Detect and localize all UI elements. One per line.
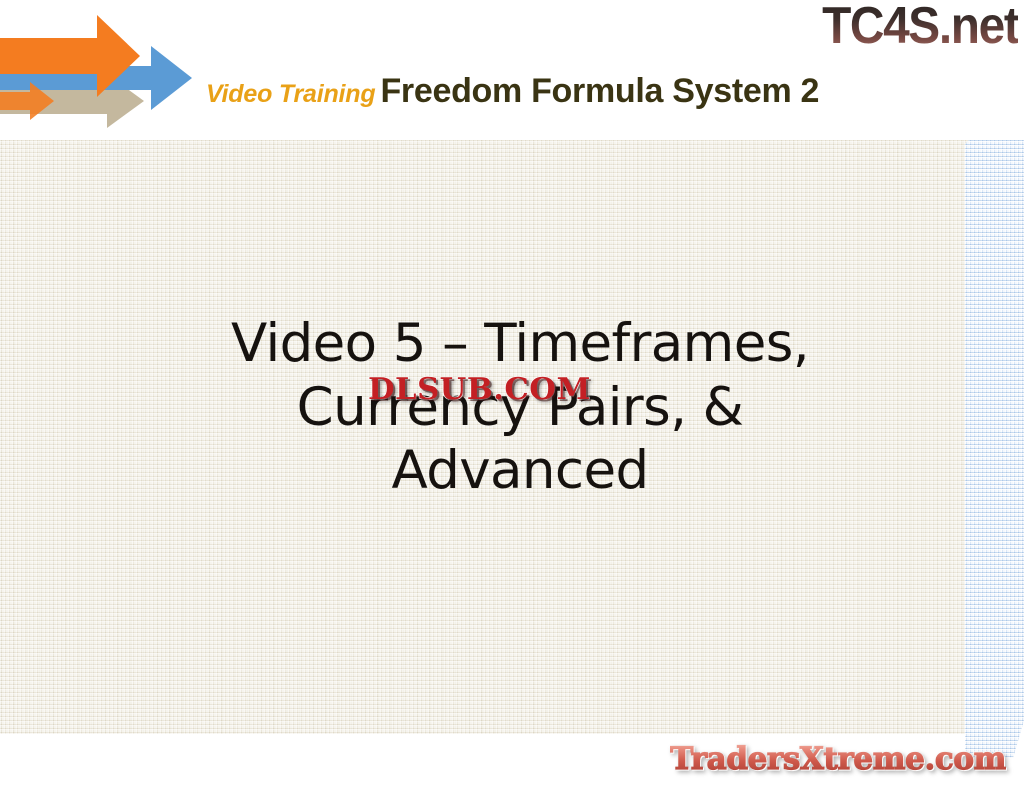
body-title-line-3: Advanced bbox=[130, 439, 910, 503]
dlsub-watermark: DLSUB.COM bbox=[368, 372, 591, 407]
tc4s-brand-logo: TC4S.net bbox=[822, 0, 1018, 56]
slide-header-title: Video TrainingFreedom Formula System 2 bbox=[206, 74, 819, 108]
header-title-prefix: Video Training bbox=[206, 80, 375, 108]
body-title-line-1: Video 5 – Timeframes, bbox=[130, 312, 910, 376]
slide-body-title: Video 5 – Timeframes, Currency Pairs, & … bbox=[130, 312, 910, 503]
presentation-slide: Video TrainingFreedom Formula System 2 T… bbox=[0, 0, 1024, 791]
decorative-blue-strip bbox=[965, 96, 1024, 758]
triple-arrow-graphic-icon bbox=[0, 12, 196, 128]
tradersxtreme-brand-logo: TradersXtreme.com bbox=[670, 741, 1006, 777]
header-title-main: Freedom Formula System 2 bbox=[380, 72, 819, 110]
